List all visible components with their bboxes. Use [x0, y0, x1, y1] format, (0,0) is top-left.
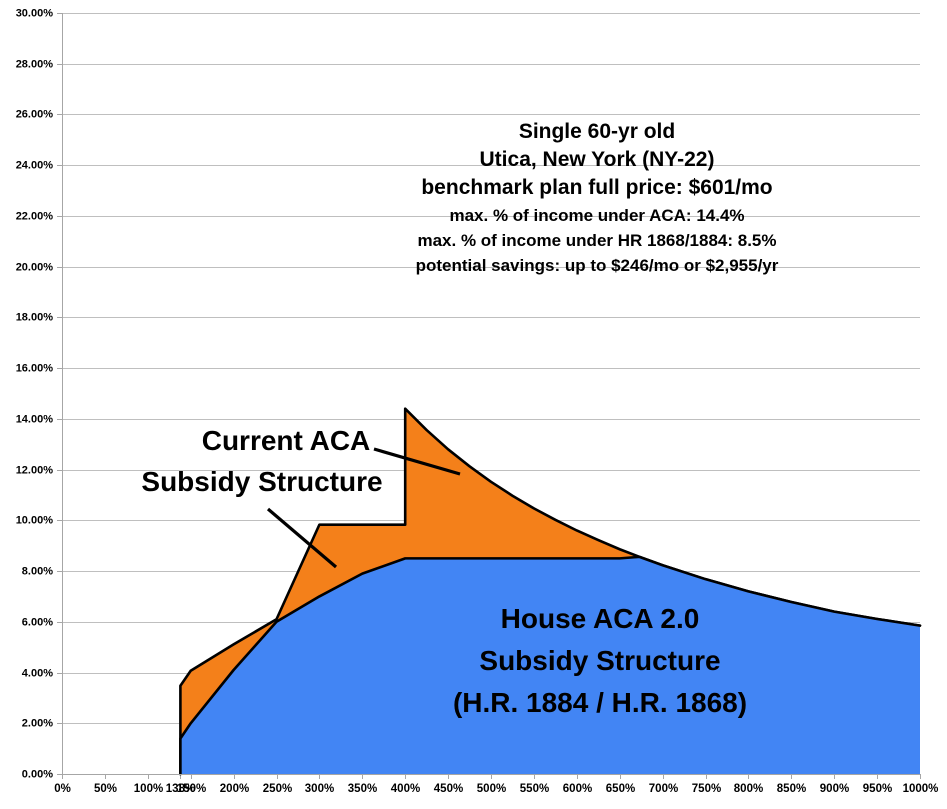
x-tick-label: 800%: [734, 783, 763, 795]
x-tick-label: 150%: [177, 783, 206, 795]
x-tick-label: 500%: [477, 783, 506, 795]
title-line-1: Single 60-yr old: [519, 120, 675, 143]
x-tick-label: 750%: [692, 783, 721, 795]
x-tick-label: 250%: [263, 783, 292, 795]
x-tick-label: 100%: [134, 783, 163, 795]
annotation-house-aca-line2: Subsidy Structure: [479, 645, 720, 676]
title-line-4: max. % of income under ACA: 14.4%: [449, 206, 744, 225]
y-tick-label: 6.00%: [22, 616, 53, 628]
y-tick-label: 4.00%: [22, 667, 53, 679]
title-line-2: Utica, New York (NY-22): [480, 148, 715, 171]
y-tick-label: 18.00%: [16, 311, 54, 323]
x-tick-label: 850%: [777, 783, 806, 795]
x-tick-label: 700%: [649, 783, 678, 795]
x-tick-label: 600%: [563, 783, 592, 795]
y-tick-label: 12.00%: [16, 464, 54, 476]
x-tick-label: 900%: [820, 783, 849, 795]
y-tick-label: 30.00%: [16, 7, 54, 19]
x-tick-label: 0%: [54, 783, 71, 795]
chart-container: 0.00%2.00%4.00%6.00%8.00%10.00%12.00%14.…: [0, 0, 947, 809]
annotation-house-aca-line3: (H.R. 1884 / H.R. 1868): [453, 687, 747, 718]
x-tick-label: 950%: [863, 783, 892, 795]
title-line-3: benchmark plan full price: $601/mo: [421, 176, 772, 199]
y-tick-label: 14.00%: [16, 413, 54, 425]
title-line-5: max. % of income under HR 1868/1884: 8.5…: [417, 231, 776, 250]
x-axis-labels: 0%50%100%138%150%200%250%300%350%400%450…: [54, 783, 938, 795]
x-tick-label: 450%: [434, 783, 463, 795]
y-tick-label: 20.00%: [16, 261, 54, 273]
y-tick-label: 0.00%: [22, 768, 53, 780]
x-tick-label: 350%: [348, 783, 377, 795]
x-tick-label: 50%: [94, 783, 117, 795]
annotation-current-aca-line1: Current ACA: [202, 425, 371, 456]
y-tick-label: 24.00%: [16, 159, 54, 171]
area-chart: 0.00%2.00%4.00%6.00%8.00%10.00%12.00%14.…: [0, 0, 947, 809]
x-tick-label: 1000%: [903, 783, 939, 795]
x-tick-label: 200%: [220, 783, 249, 795]
x-tick-label: 300%: [305, 783, 334, 795]
annotation-current-aca-line2: Subsidy Structure: [141, 466, 382, 497]
y-tick-label: 16.00%: [16, 362, 54, 374]
x-tick-label: 550%: [520, 783, 549, 795]
title-line-6: potential savings: up to $246/mo or $2,9…: [416, 256, 779, 275]
y-tick-label: 8.00%: [22, 565, 53, 577]
annotation-house-aca-line1: House ACA 2.0: [501, 603, 700, 634]
y-tick-label: 22.00%: [16, 210, 54, 222]
x-tick-label: 400%: [391, 783, 420, 795]
y-tick-label: 28.00%: [16, 58, 54, 70]
y-tick-label: 2.00%: [22, 717, 53, 729]
y-tick-label: 26.00%: [16, 108, 54, 120]
y-tick-label: 10.00%: [16, 514, 54, 526]
x-tick-label: 650%: [606, 783, 635, 795]
